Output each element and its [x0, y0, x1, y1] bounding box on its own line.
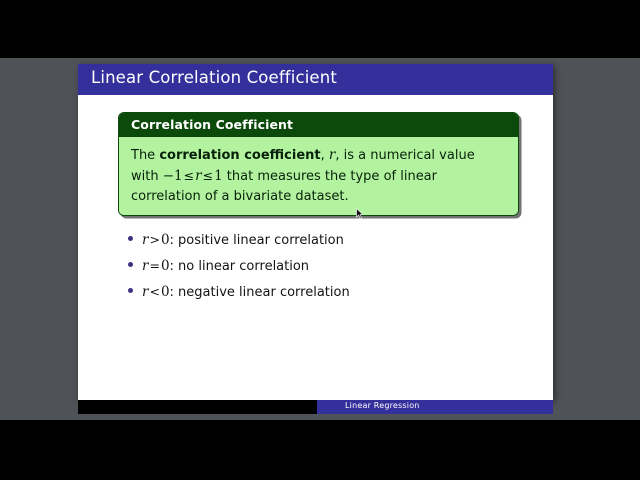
- math-le-second: ≤: [202, 168, 214, 183]
- slide-footer-bar: Linear Regression: [78, 400, 553, 414]
- bullet-text: : positive linear correlation: [170, 233, 344, 248]
- page-title: Linear Correlation Coefficient: [91, 68, 337, 87]
- definition-term: correlation coefficient: [159, 148, 320, 163]
- list-item-content: r<0: negative linear correlation: [142, 284, 350, 300]
- bullet-dot-icon: [128, 288, 133, 293]
- bullet-text: : no linear correlation: [170, 259, 310, 274]
- bullet-dot-icon: [128, 236, 133, 241]
- definition-block-heading: Correlation Coefficient: [119, 113, 518, 137]
- bullet-relation: =: [148, 258, 160, 273]
- definition-block-body: The correlation coefficient, r, is a num…: [119, 137, 518, 215]
- bullet-value: 0: [161, 258, 170, 274]
- slide-title-bar: Linear Correlation Coefficient: [78, 64, 553, 95]
- math-negative-one: −1: [163, 168, 183, 184]
- bullet-value: 0: [161, 284, 170, 300]
- definition-block: Correlation Coefficient The correlation …: [118, 112, 519, 216]
- list-item: r<0: negative linear correlation: [128, 284, 488, 300]
- bullet-text: : negative linear correlation: [170, 285, 350, 300]
- math-one: 1: [214, 168, 223, 184]
- bullet-value: 0: [161, 232, 170, 248]
- list-item-content: r>0: positive linear correlation: [142, 232, 344, 248]
- math-inequality-range: −1≤r≤1: [163, 169, 223, 184]
- list-item-content: r=0: no linear correlation: [142, 258, 309, 274]
- mouse-cursor-icon: [356, 204, 364, 215]
- bullet-list: r>0: positive linear correlation r=0: no…: [128, 232, 488, 310]
- math-le-first: ≤: [183, 168, 195, 183]
- screen-root: Linear Correlation Coefficient Correlati…: [0, 0, 640, 480]
- math-variable-r-range: r: [195, 168, 201, 184]
- definition-text-comma: ,: [321, 148, 329, 163]
- definition-text-lead: The: [131, 148, 159, 163]
- list-item: r=0: no linear correlation: [128, 258, 488, 274]
- bullet-relation: <: [148, 284, 160, 299]
- slide-footer-accent: Linear Regression: [317, 400, 553, 414]
- slide-footer-section-label: Linear Regression: [345, 401, 420, 410]
- presentation-slide: Linear Correlation Coefficient Correlati…: [78, 64, 553, 400]
- list-item: r>0: positive linear correlation: [128, 232, 488, 248]
- bullet-dot-icon: [128, 262, 133, 267]
- bullet-relation: >: [148, 232, 160, 247]
